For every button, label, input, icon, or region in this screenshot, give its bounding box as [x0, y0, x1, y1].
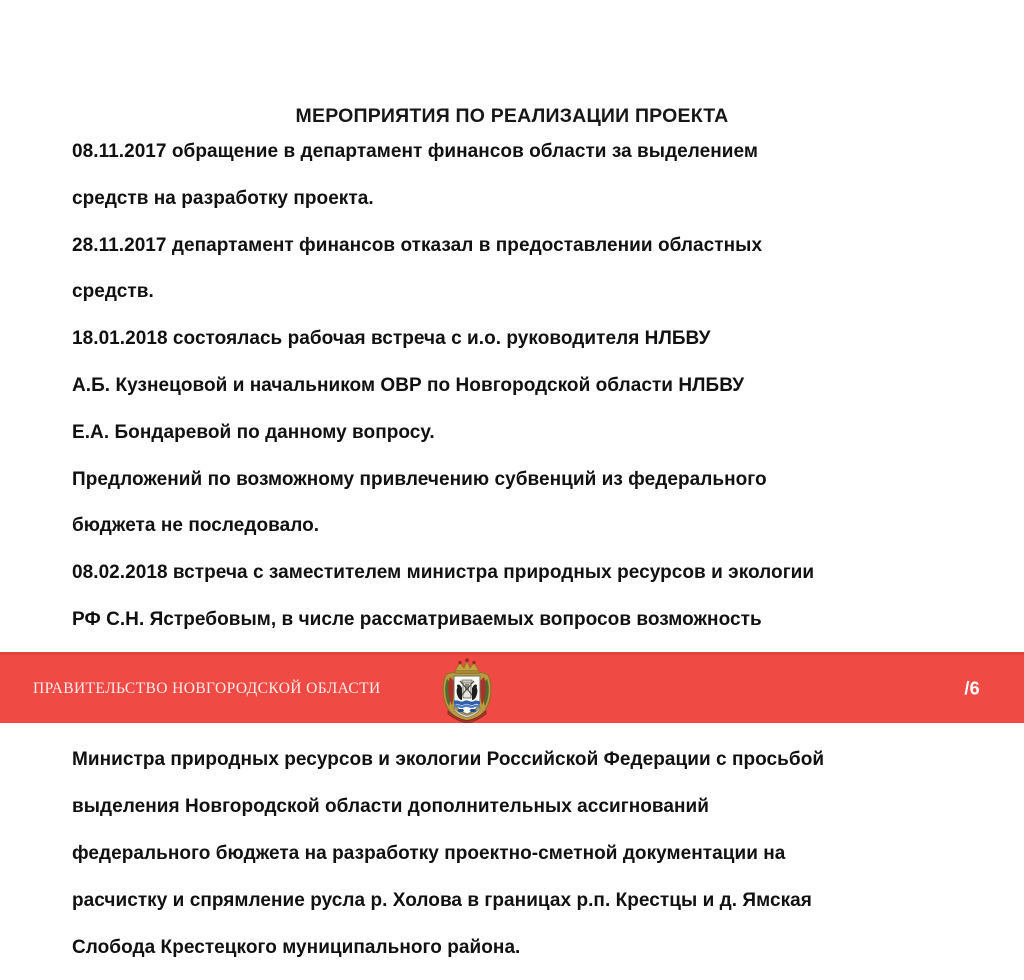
body-line: федерального бюджета на разработку проек…	[72, 840, 892, 868]
body-line: расчистку и спрямление русла р. Холова в…	[72, 887, 892, 915]
body-line: средств.	[72, 278, 892, 306]
slide-footer: ПРАВИТЕЛЬСТВО НОВГОРОДСКОЙ ОБЛАСТИ	[0, 652, 1024, 723]
body-line: выделения Новгородской области дополните…	[72, 793, 892, 821]
body-text-block: 08.11.2017 обращение в департамент финан…	[72, 119, 892, 980]
body-line: 08.11.2017 обращение в департамент финан…	[72, 138, 892, 166]
body-line: Е.А. Бондаревой по данному вопросу.	[72, 419, 892, 447]
body-line: РФ С.Н. Ястребовым, в числе рассматривае…	[72, 606, 892, 634]
slide-canvas: МЕРОПРИЯТИЯ ПО РЕАЛИЗАЦИИ ПРОЕКТА 08.11.…	[0, 0, 1024, 723]
coat-of-arms-icon	[438, 657, 496, 723]
body-line: 18.01.2018 состоялась рабочая встреча с …	[72, 325, 892, 353]
body-line: Министра природных ресурсов и экологии Р…	[72, 746, 892, 774]
body-line: средств на разработку проекта.	[72, 185, 892, 213]
body-line: бюджета не последовало.	[72, 512, 892, 540]
body-line: 28.11.2017 департамент финансов отказал …	[72, 232, 892, 260]
page-number: /6	[964, 679, 980, 700]
body-line: Слобода Крестецкого муниципального район…	[72, 934, 892, 962]
footer-organization-label: ПРАВИТЕЛЬСТВО НОВГОРОДСКОЙ ОБЛАСТИ	[33, 680, 381, 698]
body-line: Предложений по возможному привлечению су…	[72, 466, 892, 494]
body-line: 08.02.2018 встреча с заместителем минист…	[72, 559, 892, 587]
body-line: А.Б. Кузнецовой и начальником ОВР по Нов…	[72, 372, 892, 400]
